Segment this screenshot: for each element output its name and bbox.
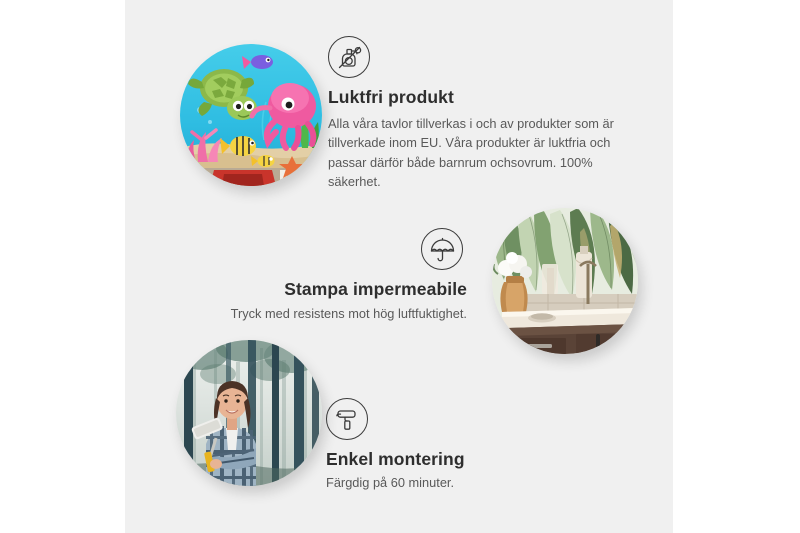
paint-roller-icon (326, 398, 368, 440)
poster-canvas: Luktfri produkt Alla våra tavlor tillver… (0, 0, 800, 533)
feature-body: Tryck med resistens mot hög luftfuktighe… (205, 304, 467, 323)
photo-underwater-scene (180, 44, 322, 186)
underwater-illustration (180, 44, 322, 186)
feature-title: Stampa impermeabile (205, 279, 467, 300)
forest-illustration (176, 340, 322, 486)
feature-body: Alla våra tavlor tillverkas i och av pro… (328, 114, 628, 192)
feature-body: Färgdig på 60 minuter. (326, 473, 586, 492)
feature-easy-mounting: Enkel montering Färgdig på 60 minuter. (326, 398, 586, 492)
photo-decorator-forest (176, 340, 322, 486)
feature-odour-free: Luktfri produkt Alla våra tavlor tillver… (328, 36, 628, 192)
no-odour-perfume-bottle-icon (328, 36, 370, 78)
bathroom-illustration (492, 208, 638, 354)
feature-title: Enkel montering (326, 449, 586, 470)
photo-bathroom-vanity (492, 208, 638, 354)
feature-title: Luktfri produkt (328, 87, 628, 108)
feature-waterproof: Stampa impermeabile Tryck med resistens … (205, 228, 467, 323)
umbrella-icon (421, 228, 463, 270)
